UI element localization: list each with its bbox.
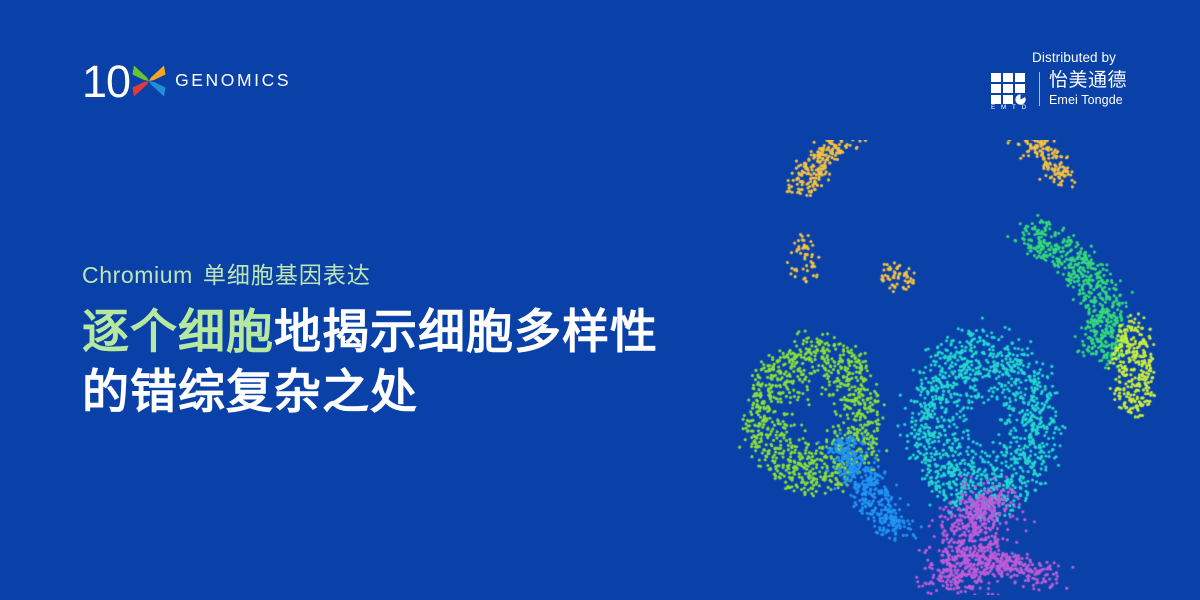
partner-name-en: Emei Tongde bbox=[1049, 94, 1127, 108]
eyebrow-product: Chromium bbox=[82, 262, 193, 288]
tenx-genomics-logo: 10 GENOMICS bbox=[82, 57, 291, 105]
x-mark-icon bbox=[132, 63, 166, 99]
headline-line-1: 逐个细胞地揭示细胞多样性 bbox=[82, 303, 742, 363]
partner-name-cn: 怡美通德 bbox=[1049, 71, 1127, 91]
logo-digits: 10 bbox=[82, 59, 130, 104]
umap-scatter-plot bbox=[735, 140, 1190, 595]
eyebrow-subtitle: 单细胞基因表达 bbox=[203, 263, 371, 289]
partner-logo: E M T D 怡美通德 Emei Tongde bbox=[990, 71, 1158, 110]
distributed-by-label: Distributed by bbox=[990, 50, 1158, 65]
headline: 逐个细胞地揭示细胞多样性 的错综复杂之处 bbox=[82, 303, 742, 423]
eyebrow-text: Chromium单细胞基因表达 bbox=[82, 262, 742, 291]
distributed-by-block: Distributed by E M T D bbox=[990, 50, 1158, 110]
emtd-grid-icon: E M T D bbox=[990, 71, 1032, 110]
headline-line-2: 的错综复杂之处 bbox=[82, 363, 742, 423]
svg-text:E M T D: E M T D bbox=[991, 104, 1028, 110]
umap-canvas bbox=[735, 140, 1190, 595]
copy-block: Chromium单细胞基因表达 逐个细胞地揭示细胞多样性 的错综复杂之处 bbox=[82, 262, 742, 423]
partner-names: 怡美通德 Emei Tongde bbox=[1049, 71, 1127, 108]
partner-divider bbox=[1039, 72, 1040, 106]
promo-banner: 10 GENOMICS Distributed by bbox=[0, 0, 1200, 600]
headline-accent-text: 逐个细胞 bbox=[82, 305, 274, 360]
logo-wordmark: GENOMICS bbox=[175, 72, 291, 91]
headline-plain-text: 地揭示细胞多样性 bbox=[274, 305, 658, 360]
